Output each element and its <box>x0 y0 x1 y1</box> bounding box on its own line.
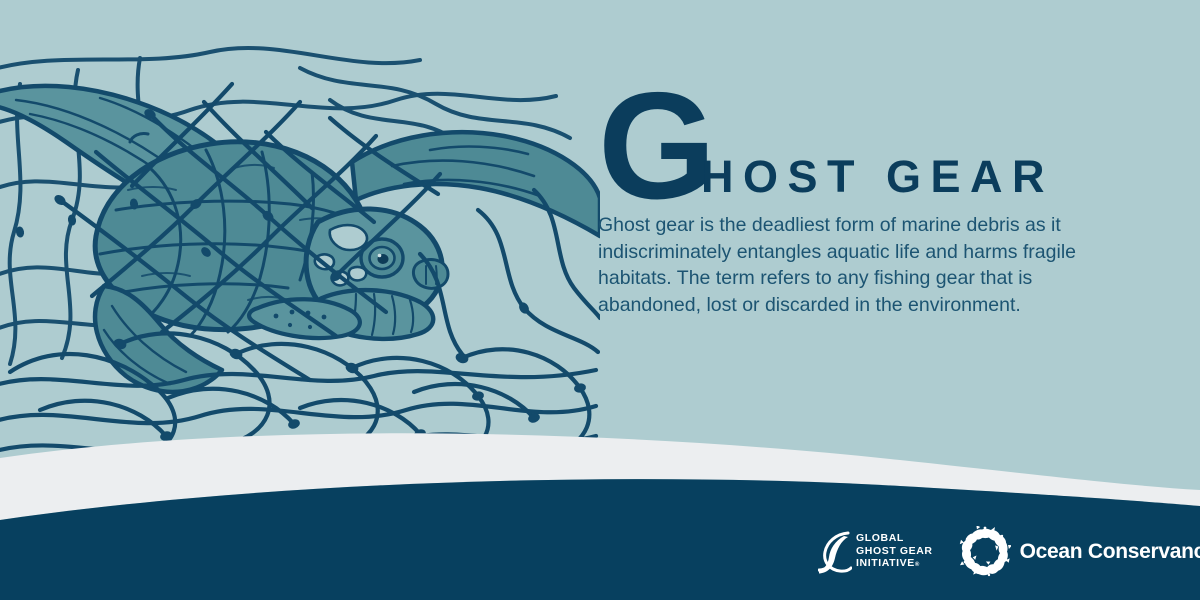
gggi-line-3: INITIATIVE <box>856 557 915 569</box>
logo-ocean-conservancy[interactable]: Ocean Conservancy® <box>959 526 1200 578</box>
logo-global-ghost-gear-initiative[interactable]: GLOBAL GHOST GEAR INITIATIVE® <box>818 529 933 575</box>
gggi-line-2: GHOST GEAR <box>856 545 933 557</box>
headline-and-body-column: G HOST GEAR Ghost gear is the deadliest … <box>598 86 1138 338</box>
gggi-line-1: GLOBAL <box>856 532 933 544</box>
gggi-wordmark: GLOBAL GHOST GEAR INITIATIVE® <box>856 532 933 571</box>
infographic-canvas: G HOST GEAR Ghost gear is the deadliest … <box>0 0 1200 600</box>
gggi-registered-mark: ® <box>915 562 920 568</box>
title-dropcap-letter: G <box>598 70 714 222</box>
ocean-conservancy-wreath-icon <box>959 526 1011 578</box>
footer-logo-group: GLOBAL GHOST GEAR INITIATIVE® <box>818 518 1200 586</box>
title-remainder: HOST GEAR <box>701 154 1054 199</box>
gggi-wave-hook-icon <box>818 529 852 575</box>
gggi-line-3-wrap: INITIATIVE® <box>856 557 933 571</box>
oc-wordmark-text: Ocean Conservancy <box>1020 540 1200 563</box>
ocean-conservancy-wordmark: Ocean Conservancy® <box>1020 540 1200 564</box>
page-title: G HOST GEAR <box>598 86 1138 208</box>
